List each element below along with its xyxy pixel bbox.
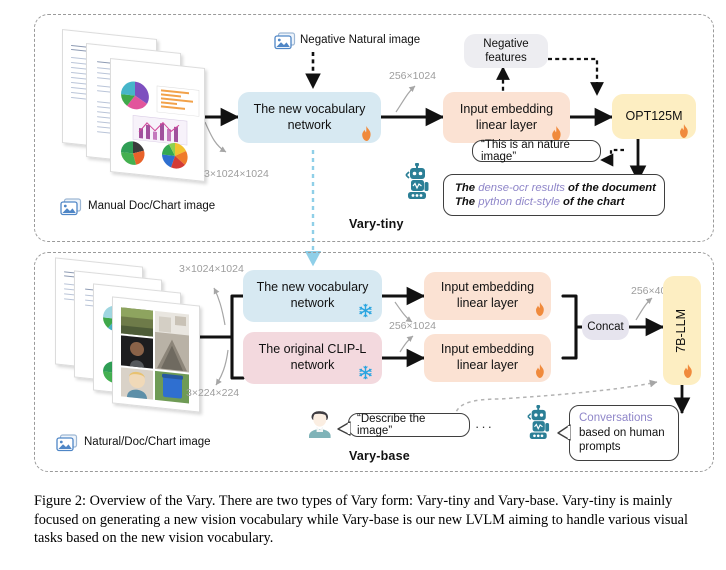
opt125m-label: OPT125M: [626, 109, 683, 125]
dim-mid-base: 256×1024: [389, 320, 436, 332]
tiny-output-line-1: The dense-ocr results of the document: [455, 182, 656, 194]
input-embedding-linear-layer-box-base-top[interactable]: Input embedding linear layer: [424, 272, 551, 320]
tiny-output-line1-prefix: The: [455, 182, 478, 194]
flame-icon: [534, 302, 546, 319]
tiny-output-line-2: The python dict-style of the chart: [455, 196, 625, 208]
snowflake-icon: [358, 365, 373, 382]
tiny-output-line2-prefix: The: [455, 196, 478, 208]
robot-bubble-tail: [556, 424, 572, 442]
robot-icon: [404, 163, 438, 205]
snowflake-icon: [358, 303, 373, 320]
input-embedding-linear-layer-box-base-bottom[interactable]: Input embedding linear layer: [424, 334, 551, 382]
chart-sheet-graphics: [111, 59, 204, 181]
flame-icon: [678, 124, 690, 141]
conversations-answer-line-1: Conversations: [579, 411, 653, 426]
flame-icon: [360, 126, 373, 144]
input-embedding-linear-layer-label-base-bottom: Input embedding linear layer: [430, 342, 545, 373]
input-embedding-linear-layer-label-base-top: Input embedding linear layer: [430, 280, 545, 311]
new-vocabulary-network-label-base: The new vocabulary network: [249, 280, 376, 311]
person-icon: [305, 405, 335, 441]
dim-input-base-top: 3×1024×1024: [179, 263, 244, 275]
tiny-output-line2-suffix: of the chart: [560, 196, 625, 208]
dim-input-base-bottom: 3×224×224: [186, 387, 239, 399]
image-stack-icon: [56, 434, 78, 454]
vary-tiny-label: Vary-tiny: [349, 217, 404, 231]
robot-icon: [526, 405, 558, 445]
flame-icon: [682, 364, 694, 381]
dim-vocab-out-tiny: 256×1024: [389, 70, 436, 82]
manual-doc-chart-stack: [60, 34, 205, 179]
original-clip-l-network-label: The original CLIP-L network: [249, 342, 376, 373]
tiny-output-line1-highlight: dense-ocr results: [478, 182, 565, 194]
negative-features-label: Negative features: [470, 37, 542, 66]
user-bubble-tail: [336, 421, 352, 437]
user-prompt-ellipsis: ···: [475, 419, 494, 434]
new-vocabulary-network-label-tiny: The new vocabulary network: [244, 102, 375, 133]
figure-canvas: Vary-tiny: [0, 0, 726, 570]
user-prompt-text: “Describe the image”: [357, 413, 461, 437]
negative-features-box[interactable]: Negative features: [464, 34, 548, 68]
conversations-answer-line-3: prompts: [579, 440, 621, 455]
7b-llm-label: 7B-LLM: [674, 309, 690, 353]
negative-natural-image-label: Negative Natural image: [300, 34, 420, 46]
input-embedding-linear-layer-label-tiny: Input embedding linear layer: [449, 102, 564, 133]
user-prompt-bubble: “Describe the image”: [348, 413, 470, 437]
image-stack-icon: [60, 198, 82, 218]
chart-sheet-front: [110, 58, 205, 182]
flame-icon: [534, 364, 546, 381]
concat-box[interactable]: Concat: [582, 314, 629, 340]
concat-label: Concat: [587, 320, 623, 334]
tiny-output-line2-highlight: python dict-style: [478, 196, 560, 208]
nature-image-answer-box: “This is an nature image”: [472, 140, 601, 162]
conversations-answer-bubble: Conversations based on human prompts: [569, 405, 679, 461]
natural-doc-chart-label: Natural/Doc/Chart image: [84, 436, 211, 448]
vary-base-label: Vary-base: [349, 449, 410, 463]
tiny-output-line1-suffix: of the document: [565, 182, 656, 194]
conversations-answer-line-2: based on human: [579, 426, 665, 441]
dim-input-tiny: 3×1024×1024: [204, 168, 269, 180]
nature-image-answer-text: “This is an nature image”: [481, 139, 592, 163]
manual-doc-chart-label: Manual Doc/Chart image: [88, 200, 215, 212]
negative-image-stack-icon: [274, 32, 296, 52]
figure-caption: Figure 2: Overview of the Vary. There ar…: [34, 492, 694, 548]
tiny-output-box: The dense-ocr results of the document Th…: [443, 174, 665, 216]
